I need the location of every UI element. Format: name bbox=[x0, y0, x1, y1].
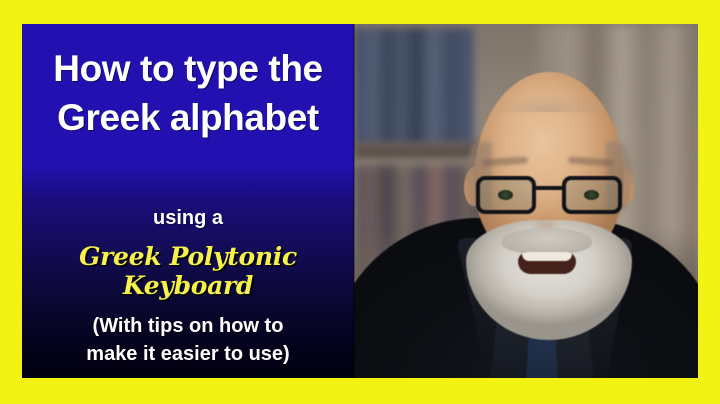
subtitle-using-a: using a bbox=[22, 207, 354, 230]
hair-top bbox=[474, 72, 624, 112]
presenter-figure bbox=[354, 24, 698, 378]
video-thumbnail: How to type the Greek alphabet using a G… bbox=[0, 0, 720, 404]
mouth bbox=[518, 252, 576, 274]
tips-note: (With tips on how to make it easier to u… bbox=[22, 312, 354, 369]
eyeglass-bridge bbox=[536, 186, 562, 190]
title-panel: How to type the Greek alphabet using a G… bbox=[22, 24, 354, 378]
keyboard-name-label: Greek Polytonic Keyboard bbox=[22, 242, 354, 300]
tips-line-1: (With tips on how to bbox=[93, 315, 284, 337]
eyeglasses bbox=[474, 176, 626, 220]
headline-line-1: How to type the bbox=[53, 48, 322, 89]
mustache bbox=[502, 228, 592, 254]
headline: How to type the Greek alphabet bbox=[22, 44, 354, 142]
teeth bbox=[522, 252, 572, 261]
panel-photo-seam bbox=[353, 24, 355, 378]
presenter-photo bbox=[354, 24, 698, 378]
headline-line-2: Greek alphabet bbox=[22, 93, 354, 142]
eye-right bbox=[584, 190, 599, 200]
eye-left bbox=[498, 190, 513, 200]
thumbnail-content: How to type the Greek alphabet using a G… bbox=[22, 24, 698, 378]
tips-line-2: make it easier to use) bbox=[22, 340, 354, 368]
